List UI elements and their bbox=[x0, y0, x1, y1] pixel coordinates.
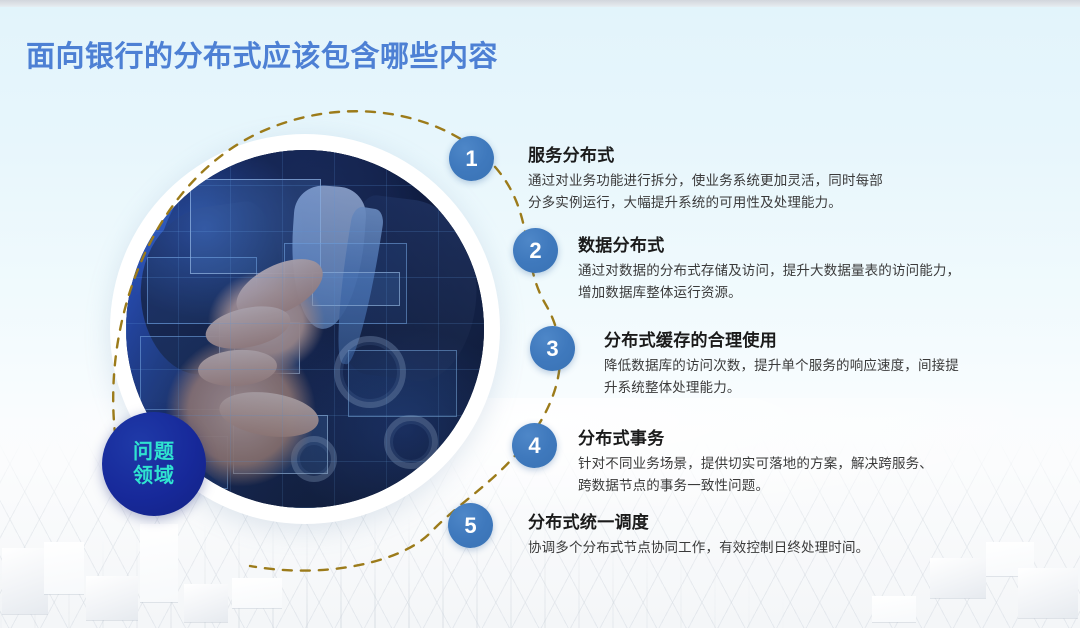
top-strip bbox=[0, 0, 1080, 7]
item-body: 协调多个分布式节点协同工作，有效控制日终处理时间。 bbox=[528, 537, 958, 559]
number-badge-3[interactable]: 3 bbox=[530, 326, 575, 371]
item-body: 通过对业务功能进行拆分，使业务系统更加灵活，同时每部 分多实例运行，大幅提升系统… bbox=[528, 170, 948, 214]
item-body: 降低数据库的访问次数，提升单个服务的响应速度，间接提 升系统整体处理能力。 bbox=[604, 355, 1024, 399]
domain-badge-line2: 领域 bbox=[133, 464, 175, 488]
item-heading: 分布式统一调度 bbox=[528, 508, 958, 533]
list-item-5[interactable]: 分布式统一调度 协调多个分布式节点协同工作，有效控制日终处理时间。 bbox=[528, 508, 958, 559]
number-badge-1[interactable]: 1 bbox=[449, 136, 494, 181]
item-heading: 服务分布式 bbox=[528, 141, 948, 166]
number-badge-5[interactable]: 5 bbox=[448, 503, 493, 548]
item-heading: 数据分布式 bbox=[578, 231, 1008, 256]
page-title: 面向银行的分布式应该包含哪些内容 bbox=[26, 33, 498, 75]
number-badge-4[interactable]: 4 bbox=[512, 423, 557, 468]
item-body: 通过对数据的分布式存储及访问，提升大数据量表的访问能力， 增加数据库整体运行资源… bbox=[578, 260, 1008, 304]
list-item-1[interactable]: 服务分布式 通过对业务功能进行拆分，使业务系统更加灵活，同时每部 分多实例运行，… bbox=[528, 141, 948, 214]
problem-domain-badge: 问题 领域 bbox=[102, 412, 206, 516]
slide-canvas: 面向银行的分布式应该包含哪些内容 bbox=[0, 0, 1080, 628]
list-item-2[interactable]: 数据分布式 通过对数据的分布式存储及访问，提升大数据量表的访问能力， 增加数据库… bbox=[578, 231, 1008, 304]
item-body: 针对不同业务场景，提供切实可落地的方案，解决跨服务、 跨数据节点的事务一致性问题… bbox=[578, 453, 998, 497]
item-heading: 分布式缓存的合理使用 bbox=[604, 326, 1024, 351]
domain-badge-line1: 问题 bbox=[133, 440, 175, 464]
list-item-4[interactable]: 分布式事务 针对不同业务场景，提供切实可落地的方案，解决跨服务、 跨数据节点的事… bbox=[578, 424, 998, 497]
item-heading: 分布式事务 bbox=[578, 424, 998, 449]
list-item-3[interactable]: 分布式缓存的合理使用 降低数据库的访问次数，提升单个服务的响应速度，间接提 升系… bbox=[604, 326, 1024, 399]
number-badge-2[interactable]: 2 bbox=[513, 228, 558, 273]
